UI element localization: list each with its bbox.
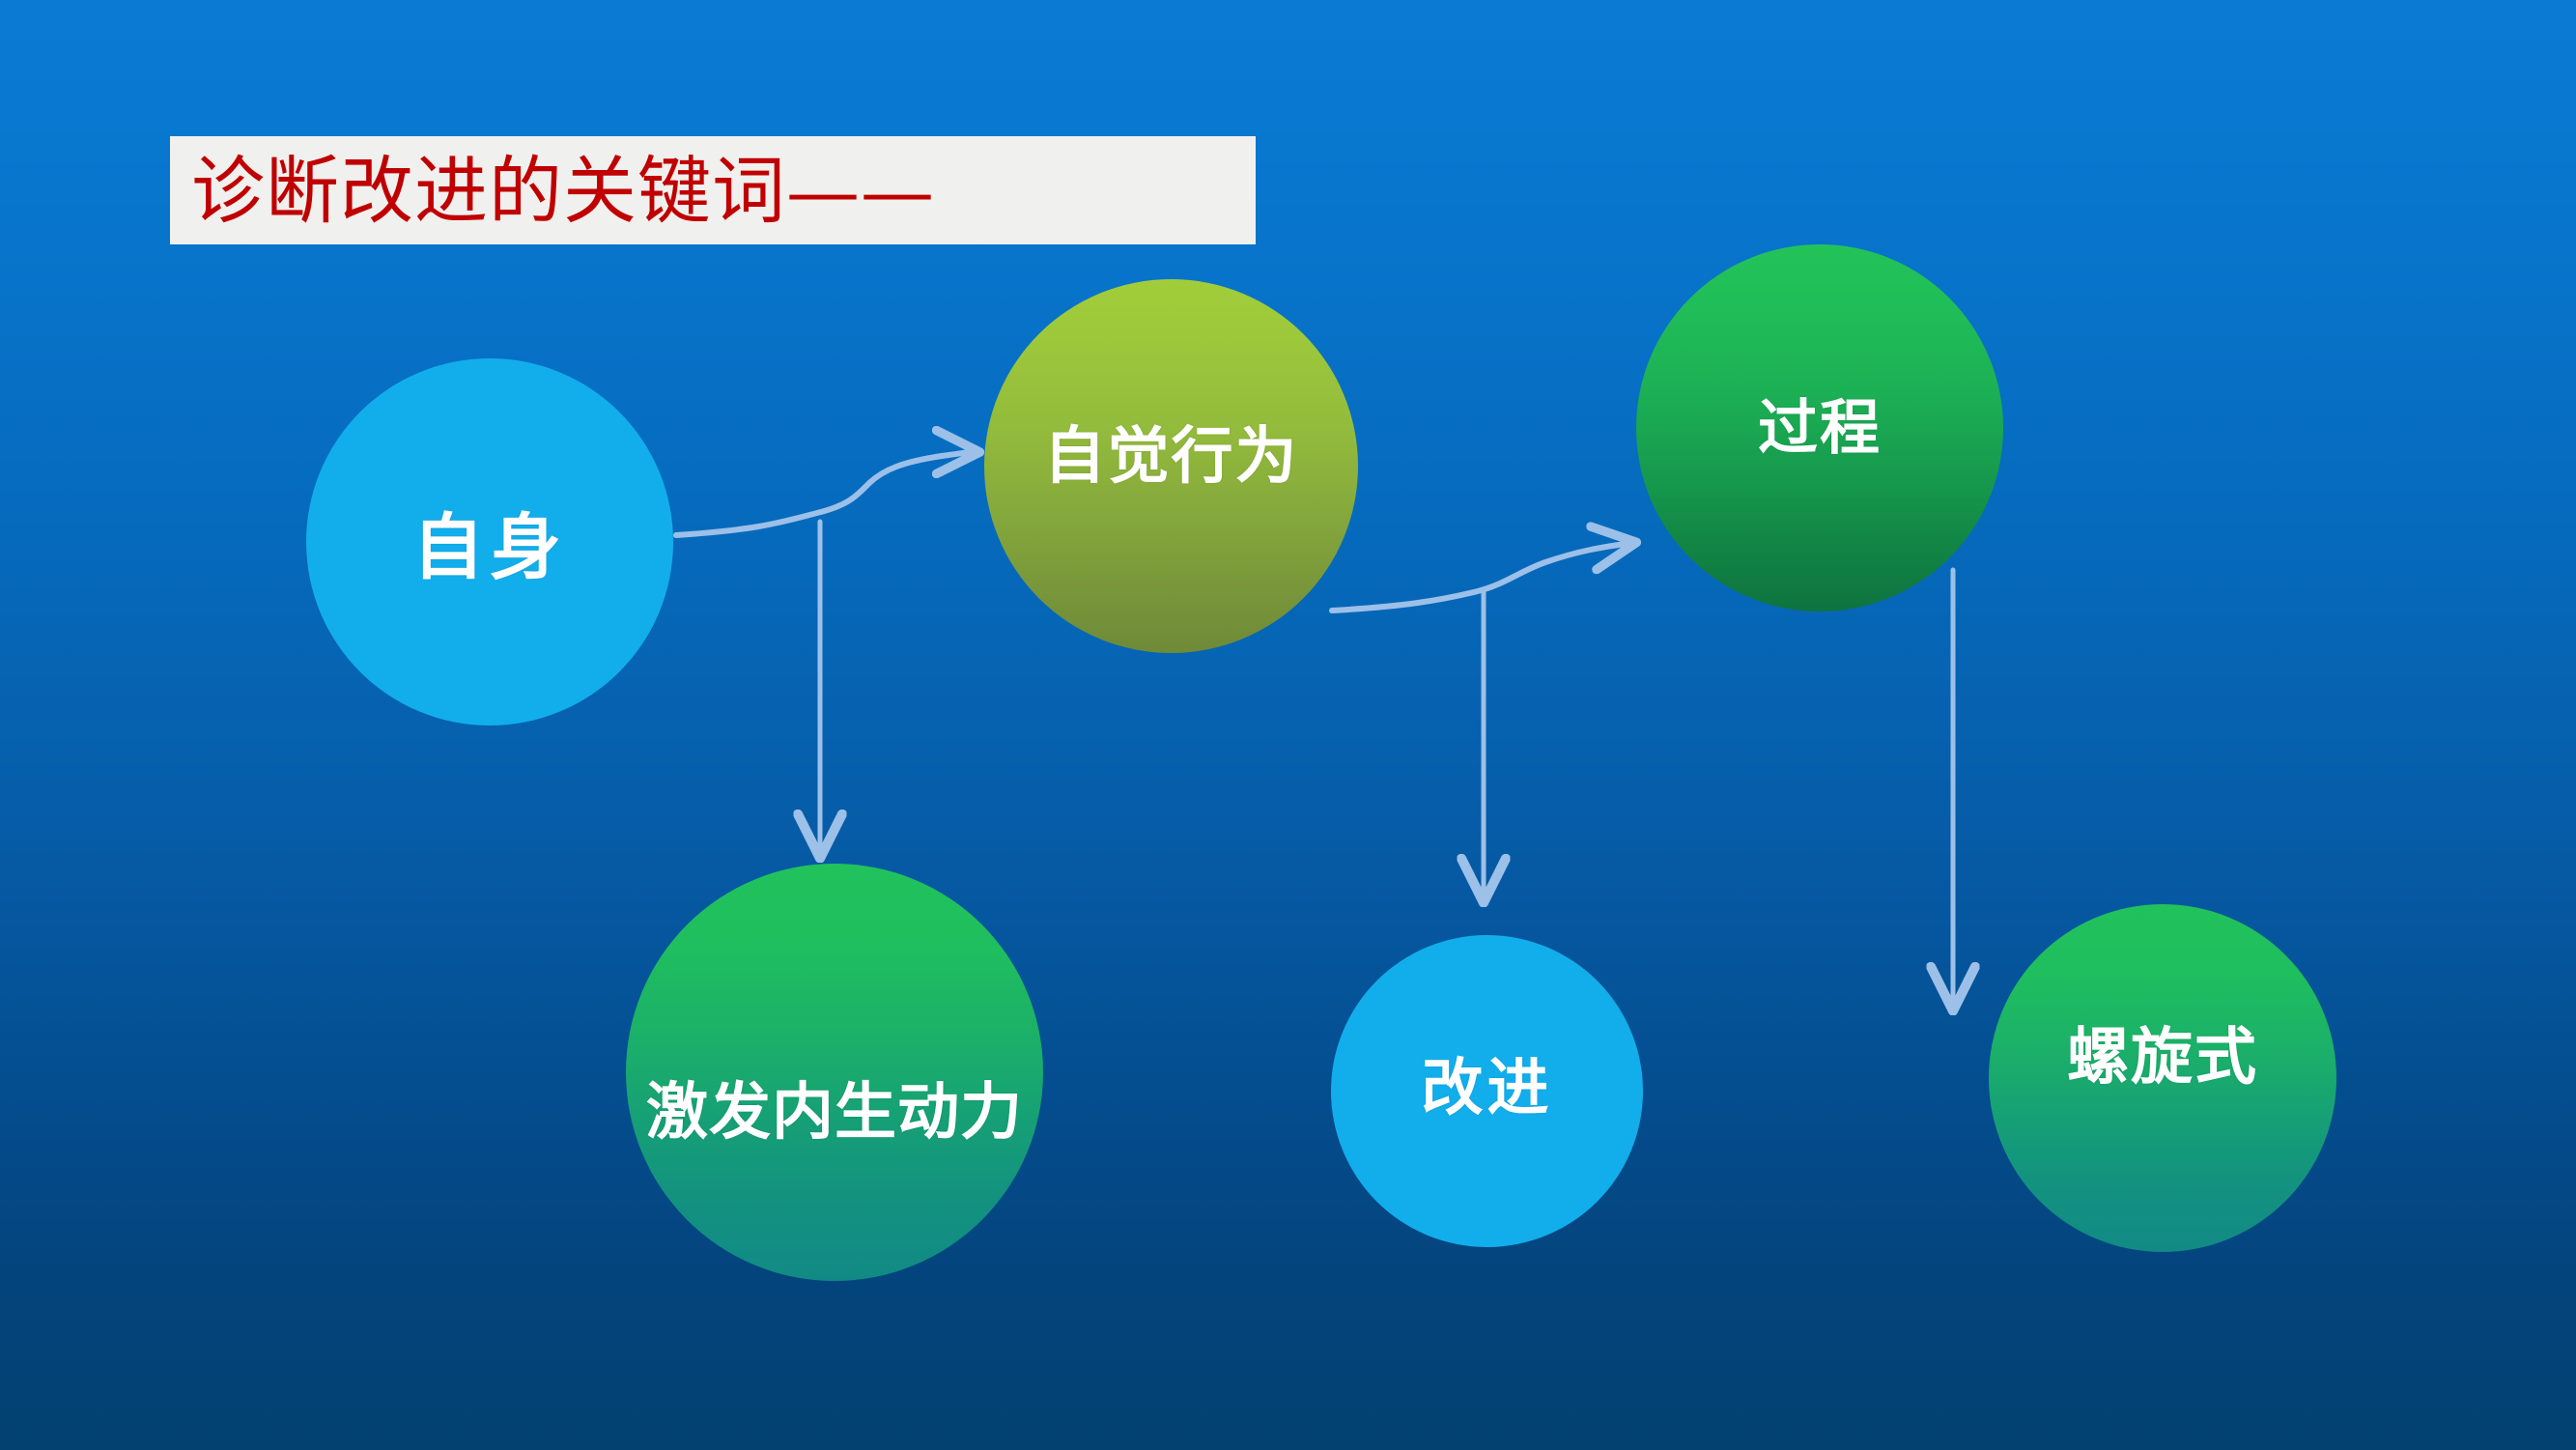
connector-zijuexingwei-to-guocheng	[1332, 543, 1632, 611]
node-label-zijuexingwei: 自觉行为	[984, 407, 1358, 496]
node-luoxuanshi[interactable]: 螺旋式	[1989, 904, 2336, 1252]
node-label-luoxuanshi: 螺旋式	[1989, 1008, 2336, 1096]
node-label-jifaneishengdongli: 激发内生动力	[626, 1063, 1043, 1151]
slide-canvas: 诊断改进的关键词—— 自身 自觉行为 过程 激发内生动力	[0, 0, 2576, 1450]
node-jifaneishengdongli[interactable]: 激发内生动力	[626, 864, 1043, 1281]
node-zishen[interactable]: 自身	[306, 358, 673, 725]
page-title: 诊断改进的关键词——	[191, 143, 1273, 240]
node-zijuexingwei[interactable]: 自觉行为	[984, 279, 1358, 653]
node-guocheng[interactable]: 过程	[1636, 244, 2003, 611]
node-label-gaijin: 改进	[1331, 1038, 1643, 1127]
connector-zishen-to-zijuexingwei	[676, 452, 976, 535]
node-label-zishen: 自身	[306, 490, 673, 593]
node-gaijin[interactable]: 改进	[1331, 935, 1643, 1247]
node-label-guocheng: 过程	[1636, 379, 2003, 466]
